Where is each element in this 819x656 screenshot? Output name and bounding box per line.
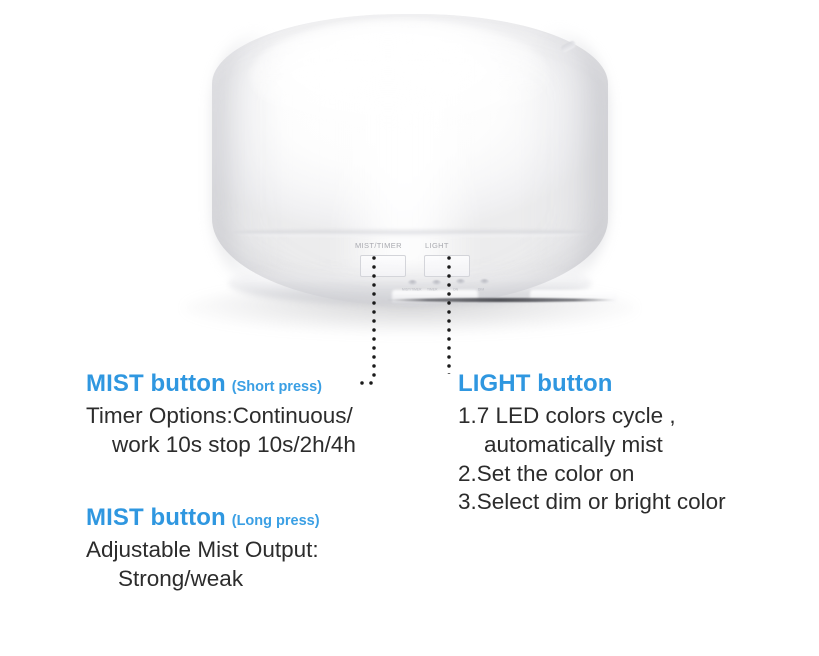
callout-mist-long-press: MIST button(Long press) Adjustable Mist …: [86, 506, 436, 594]
callout-body-line: 2.Set the color on: [458, 460, 798, 489]
callout-heading: MIST button(Short press): [86, 372, 436, 396]
panel-label-mist-timer: MIST/TIMER: [355, 241, 402, 250]
led-tick-label-2: TIMER: [427, 288, 438, 292]
callout-heading-sub: (Short press): [232, 379, 322, 395]
callout-body: 1.7 LED colors cycle , automatically mis…: [458, 402, 798, 517]
callout-light-button: LIGHT button 1.7 LED colors cycle , auto…: [458, 372, 798, 517]
led-indicator-icon-2: [432, 280, 441, 285]
callout-body-line: Timer Options:Continuous/: [86, 402, 436, 431]
led-indicator-icon-3: [456, 279, 465, 284]
device-top-highlight: [250, 20, 550, 132]
panel-label-light: LIGHT: [425, 241, 449, 250]
callout-body-line: 1.7 LED colors cycle ,: [458, 402, 798, 431]
callout-body-line: work 10s stop 10s/2h/4h: [86, 431, 436, 460]
callout-heading: LIGHT button: [458, 372, 798, 396]
led-tick-label-4: DIM: [478, 288, 484, 292]
mist-timer-button[interactable]: [360, 255, 406, 277]
callout-mist-short-press: MIST button(Short press) Timer Options:C…: [86, 372, 436, 460]
led-indicator-icon-4: [480, 279, 489, 284]
callout-body-line: Strong/weak: [86, 565, 436, 594]
callout-body-line: automatically mist: [458, 431, 798, 460]
led-tick-label-1: MIST/TIMER: [402, 288, 422, 292]
led-indicator-icon-1: [408, 280, 417, 285]
callout-body-line: Adjustable Mist Output:: [86, 536, 436, 565]
leader-line-mist-button: [372, 256, 376, 382]
device-base-contact-line: [386, 298, 616, 302]
led-tick-label-3: ON: [453, 288, 458, 292]
leader-line-light-button: [447, 256, 451, 374]
callout-body: Adjustable Mist Output: Strong/weak: [86, 536, 436, 594]
device-cover-seam: [232, 228, 588, 238]
led-indicator-row: MIST/TIMER TIMER ON DIM: [408, 278, 500, 296]
callout-body-line: 3.Select dim or bright color: [458, 488, 798, 517]
callout-heading: MIST button(Long press): [86, 506, 436, 530]
product-feature-diagram: MIST/TIMER LIGHT MIST/TIMER TIMER ON DIM…: [0, 0, 819, 656]
aroma-diffuser-product-image: MIST/TIMER LIGHT MIST/TIMER TIMER ON DIM: [212, 14, 608, 314]
callout-body: Timer Options:Continuous/ work 10s stop …: [86, 402, 436, 460]
callout-heading-main: LIGHT button: [458, 370, 612, 397]
callout-heading-sub: (Long press): [232, 513, 320, 529]
callout-heading-main: MIST button: [86, 504, 226, 531]
callout-heading-main: MIST button: [86, 370, 226, 397]
